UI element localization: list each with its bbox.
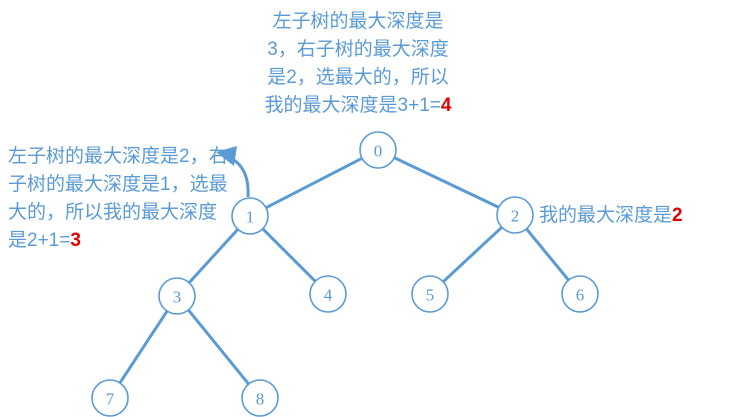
annotation-node2-depth: 我的最大深度是2: [539, 203, 729, 229]
tree-edge-2-5: [442, 227, 502, 283]
annotation-top-value: 4: [441, 95, 452, 116]
tree-node-5[interactable]: 5: [412, 276, 448, 312]
tree-node-4[interactable]: 4: [310, 276, 346, 312]
node-label-1: 1: [246, 208, 255, 227]
tree-edge-2-6: [526, 228, 569, 281]
tree-node-7[interactable]: 7: [92, 380, 128, 416]
diagram-canvas: 012345678 左子树的最大深度是3，右子树的最大深度是2，选最大的，所以我…: [0, 0, 730, 417]
tree-edge-3-7: [119, 310, 167, 384]
annotation-right-value: 2: [672, 205, 683, 226]
annotation-right-text: 我的最大深度是: [539, 205, 672, 226]
tree-node-1[interactable]: 1: [232, 198, 268, 234]
tree-edge-3-8: [188, 309, 250, 385]
tree-node-3[interactable]: 3: [159, 278, 195, 314]
tree-edge-1-4: [262, 228, 316, 282]
node-label-0: 0: [374, 142, 383, 161]
node-label-2: 2: [511, 207, 520, 226]
node-label-8: 8: [256, 390, 265, 409]
tree-node-6[interactable]: 6: [562, 276, 598, 312]
node-label-6: 6: [576, 286, 585, 305]
annotation-root-depth: 左子树的最大深度是3，右子树的最大深度是2，选最大的，所以我的最大深度是3+1=…: [258, 8, 458, 120]
tree-node-0[interactable]: 0: [360, 132, 396, 168]
tree-node-8[interactable]: 8: [242, 380, 278, 416]
node-label-5: 5: [426, 286, 435, 305]
node-label-4: 4: [324, 286, 333, 305]
annotation-left-text: 左子树的最大深度是2，右子树的最大深度是1，选最大的，所以我的最大深度是2+1=: [8, 146, 228, 251]
tree-edge-0-1: [265, 158, 363, 208]
node-label-3: 3: [173, 288, 182, 307]
node-label-7: 7: [106, 390, 115, 409]
tree-node-2[interactable]: 2: [497, 197, 533, 233]
annotation-top-text: 左子树的最大深度是3，右子树的最大深度是2，选最大的，所以我的最大深度是3+1=: [265, 11, 449, 116]
tree-edge-0-2: [393, 157, 499, 207]
annotation-node1-depth: 左子树的最大深度是2，右子树的最大深度是1，选最大的，所以我的最大深度是2+1=…: [8, 143, 230, 255]
annotation-left-value: 3: [70, 230, 81, 251]
